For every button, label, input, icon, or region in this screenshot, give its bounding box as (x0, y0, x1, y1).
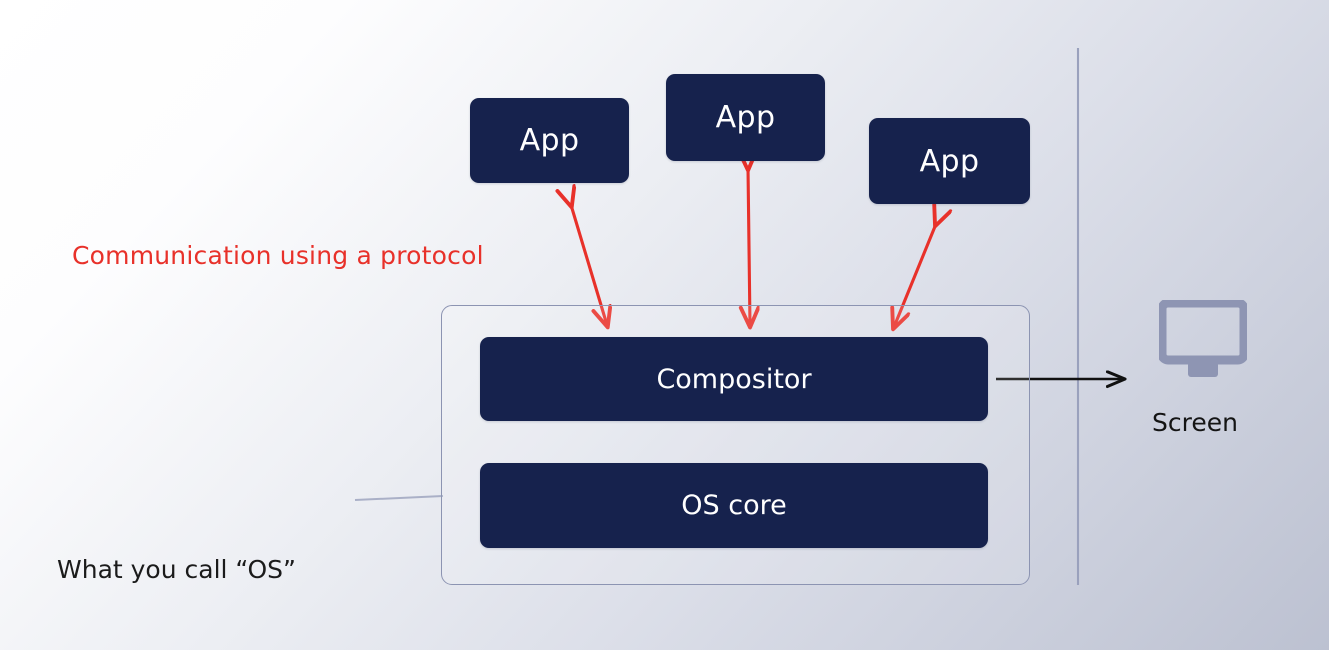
app-box-1[interactable]: App (470, 98, 629, 183)
os-note-annotation: What you call “OS” Ubuntu, macOS, etc. (57, 455, 316, 650)
app-box-3[interactable]: App (869, 118, 1030, 204)
compositor-label: Compositor (656, 364, 811, 395)
app-box-2-label: App (716, 100, 776, 135)
os-core-label: OS core (681, 490, 786, 521)
os-note-line-1: What you call “OS” (57, 547, 316, 593)
app-box-3-label: App (920, 144, 980, 179)
app-box-2[interactable]: App (666, 74, 825, 161)
protocol-arrow-2 (748, 168, 750, 325)
app-box-1-label: App (520, 123, 580, 158)
compositor-box[interactable]: Compositor (480, 337, 988, 421)
monitor-icon (1159, 300, 1247, 382)
os-core-box[interactable]: OS core (480, 463, 988, 548)
slide-canvas: App App App Compositor OS core Communica… (0, 0, 1329, 650)
protocol-annotation: Communication using a protocol (72, 241, 484, 270)
screen-label: Screen (1152, 408, 1238, 437)
os-note-leader-line (355, 496, 443, 500)
